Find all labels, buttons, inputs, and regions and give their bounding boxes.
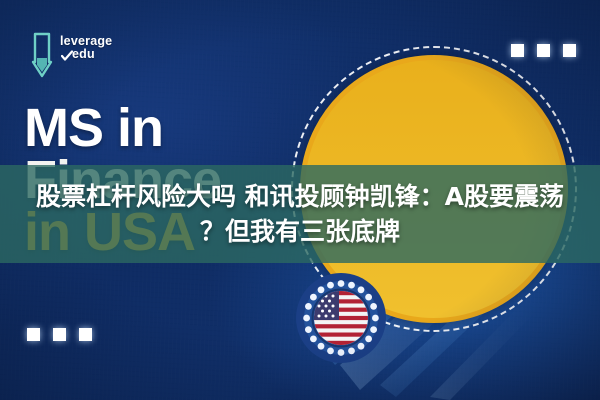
decor-squares-bottom-left (27, 328, 92, 341)
decor-square (511, 44, 524, 57)
poster-line-1: MS in (24, 103, 324, 153)
decor-square (53, 328, 66, 341)
decor-square (79, 328, 92, 341)
decor-squares-top-right (511, 44, 576, 57)
logo-check-icon (61, 50, 73, 62)
caption-line-2: ？但我有三张底牌 (200, 214, 400, 250)
logo-arrow-icon (31, 32, 61, 78)
caption-overlay-text: 股票杠杆风险大吗 和讯投顾钟凯锋：A股要震荡 ？但我有三张底牌 (0, 165, 600, 263)
decor-square (563, 44, 576, 57)
caption-line-1: 股票杠杆风险大吗 和讯投顾钟凯锋：A股要震荡 (36, 179, 564, 215)
decor-square (27, 328, 40, 341)
logo-line-2: edu (72, 48, 112, 61)
poster-canvas: leverage edu MS in Finance in USA 股票杠杆风险… (0, 0, 600, 400)
brand-logo[interactable]: leverage edu (31, 30, 151, 78)
decor-square (537, 44, 550, 57)
